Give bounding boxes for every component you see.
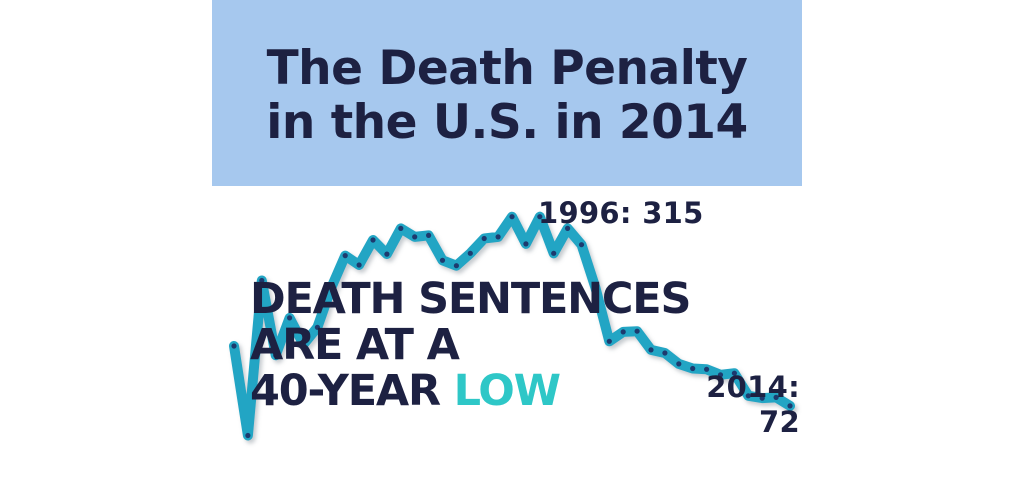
data-point-marker	[412, 234, 417, 239]
headline-overlay: DEATH SENTENCES ARE AT A 40-YEAR LOW	[250, 276, 720, 414]
headline-line-3: 40-YEAR LOW	[250, 368, 720, 414]
data-point-marker	[370, 237, 375, 242]
headline-line-3-prefix: 40-YEAR	[250, 366, 454, 416]
data-point-marker	[357, 262, 362, 267]
headline-accent-low: LOW	[454, 366, 560, 416]
headline-line-1: DEATH SENTENCES	[250, 276, 720, 322]
data-point-marker	[579, 242, 584, 247]
data-point-marker	[440, 258, 445, 263]
data-point-marker	[343, 253, 348, 258]
chart-svg	[0, 0, 1024, 492]
data-point-marker	[245, 433, 250, 438]
data-point-marker	[496, 234, 501, 239]
annotation-peak-1996: 1996: 315	[538, 196, 704, 230]
infographic-canvas: The Death Penalty in the U.S. in 2014 19…	[0, 0, 1024, 492]
data-point-marker	[509, 214, 514, 219]
data-point-marker	[384, 252, 389, 257]
data-point-marker	[426, 233, 431, 238]
data-point-marker	[551, 251, 556, 256]
data-point-marker	[482, 236, 487, 241]
line-chart	[0, 0, 1024, 492]
data-point-marker	[468, 251, 473, 256]
headline-line-2: ARE AT A	[250, 322, 720, 368]
data-point-marker	[398, 226, 403, 231]
data-point-marker	[523, 241, 528, 246]
data-point-marker	[454, 263, 459, 268]
data-point-marker	[231, 343, 236, 348]
